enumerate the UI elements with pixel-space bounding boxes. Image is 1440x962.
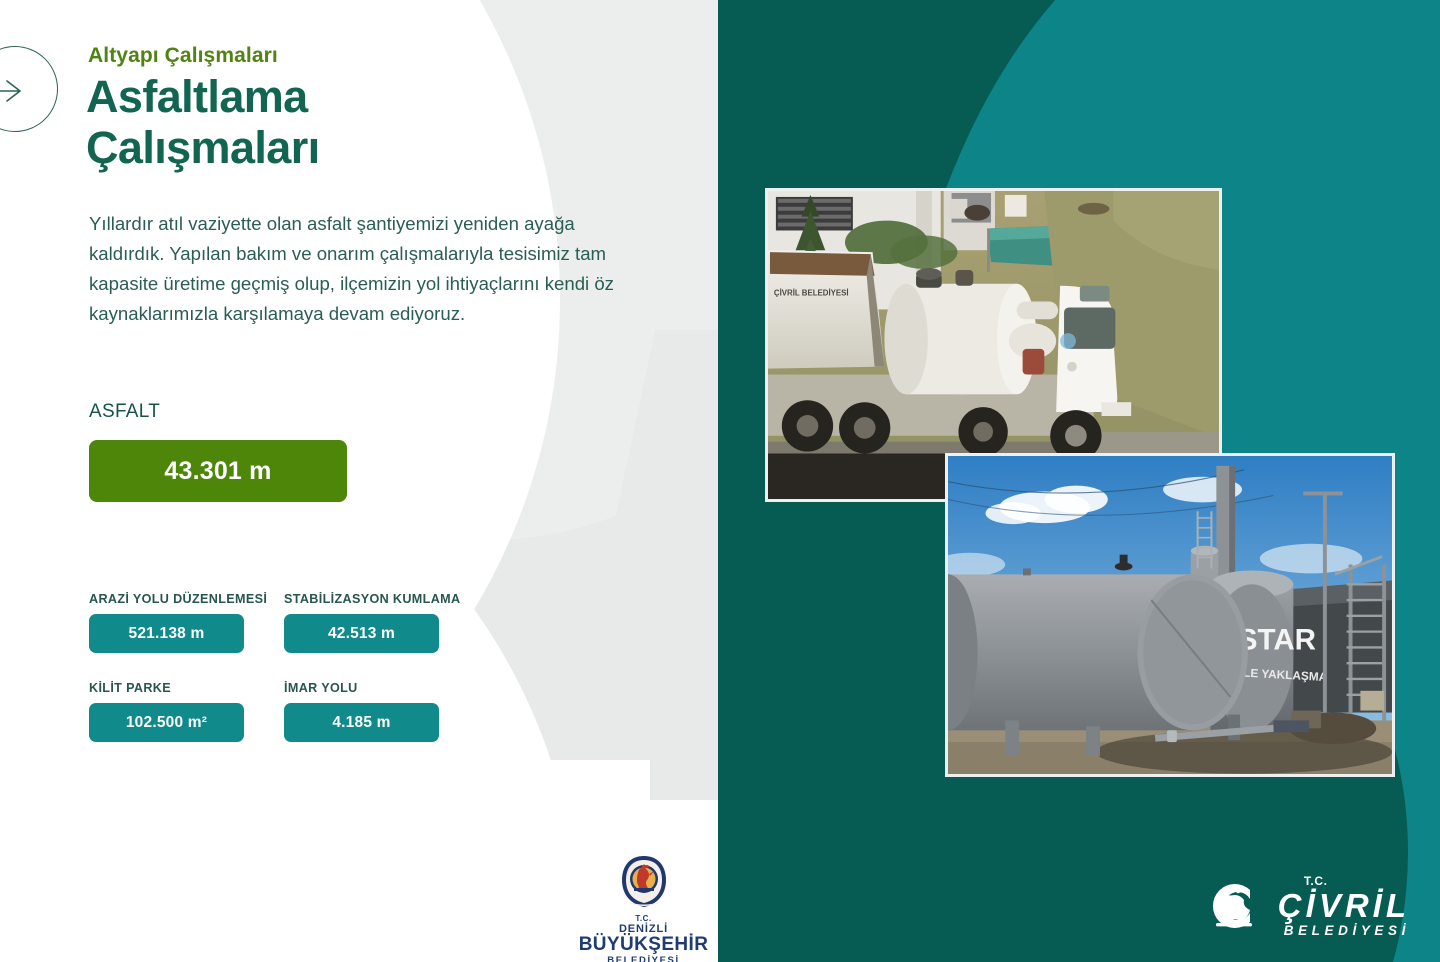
arrow-right-glyph-icon [0,80,50,102]
denizli-logo-tc: T.C. [576,914,711,923]
primary-stat-badge: 43.301 m [89,440,347,502]
primary-stat-label: ASFALT [89,401,160,423]
page-title-line2: Çalışmaları [86,123,320,174]
denizli-buyuksehir-belediyesi-logo: T.C. DENİZLİ BÜYÜKŞEHİR BELEDİYESİ [576,854,711,962]
civril-logo-name: ÇİVRİL [1278,889,1410,922]
eyebrow-label: Altyapı Çalışmaları [88,44,278,68]
stat-item-kilit-parke: KİLİT PARKE 102.500 m² [89,681,244,742]
svg-text:ÇİVRİL BELEDİYESİ: ÇİVRİL BELEDİYESİ [774,289,849,298]
stat-label: KİLİT PARKE [89,681,244,695]
civril-logo-sub: BELEDİYESİ [1278,924,1410,938]
page-title: Asfaltlama Çalışmaları [86,72,320,174]
stat-label: ARAZİ YOLU DÜZENLEMESİ [89,592,244,606]
stats-grid: ARAZİ YOLU DÜZENLEMESİ 521.138 m STABİLİ… [89,592,569,770]
stat-item-imar-yolu: İMAR YOLU 4.185 m [284,681,439,742]
stat-label: STABİLİZASYON KUMLAMA [284,592,439,606]
stat-value: 102.500 m² [126,714,207,732]
stat-value: 42.513 m [328,625,395,643]
asphalt-plant-tanks-photo: ASTAR ATEŞLE YAKLAŞMA [945,453,1395,777]
primary-stat-value: 43.301 m [164,457,271,486]
civril-apple-c-logo-icon [1206,877,1268,935]
civril-logo-tc: T.C. [1304,875,1410,887]
stat-badge: 521.138 m [89,614,244,653]
stat-badge: 42.513 m [284,614,439,653]
stat-item-arazi-yolu-duzenlemesi: ARAZİ YOLU DÜZENLEMESİ 521.138 m [89,592,244,653]
stat-value: 4.185 m [332,714,390,732]
slide-canvas: ÇİVRİL BELEDİYESİ [0,0,1440,962]
stat-badge: 102.500 m² [89,703,244,742]
stats-row-2: KİLİT PARKE 102.500 m² İMAR YOLU 4.185 m [89,681,569,742]
denizli-logo-sub: BELEDİYESİ [576,955,711,962]
body-paragraph: Yıllardır atıl vaziyette olan asfalt şan… [89,209,654,329]
stat-label: İMAR YOLU [284,681,439,695]
left-content-panel: Altyapı Çalışmaları Asfaltlama Çalışmala… [0,0,718,962]
stat-badge: 4.185 m [284,703,439,742]
denizli-rooster-crest-icon [618,854,670,912]
stat-item-stabilizasyon-kumlama: STABİLİZASYON KUMLAMA 42.513 m [284,592,439,653]
civril-belediyesi-logo: T.C. ÇİVRİL BELEDİYESİ [1206,875,1410,938]
right-visual-panel: ÇİVRİL BELEDİYESİ [718,0,1440,962]
page-title-line1: Asfaltlama [86,71,308,122]
stat-value: 521.138 m [129,625,205,643]
denizli-logo-main: BÜYÜKŞEHİR [576,935,711,955]
stats-row-1: ARAZİ YOLU DÜZENLEMESİ 521.138 m STABİLİ… [89,592,569,653]
